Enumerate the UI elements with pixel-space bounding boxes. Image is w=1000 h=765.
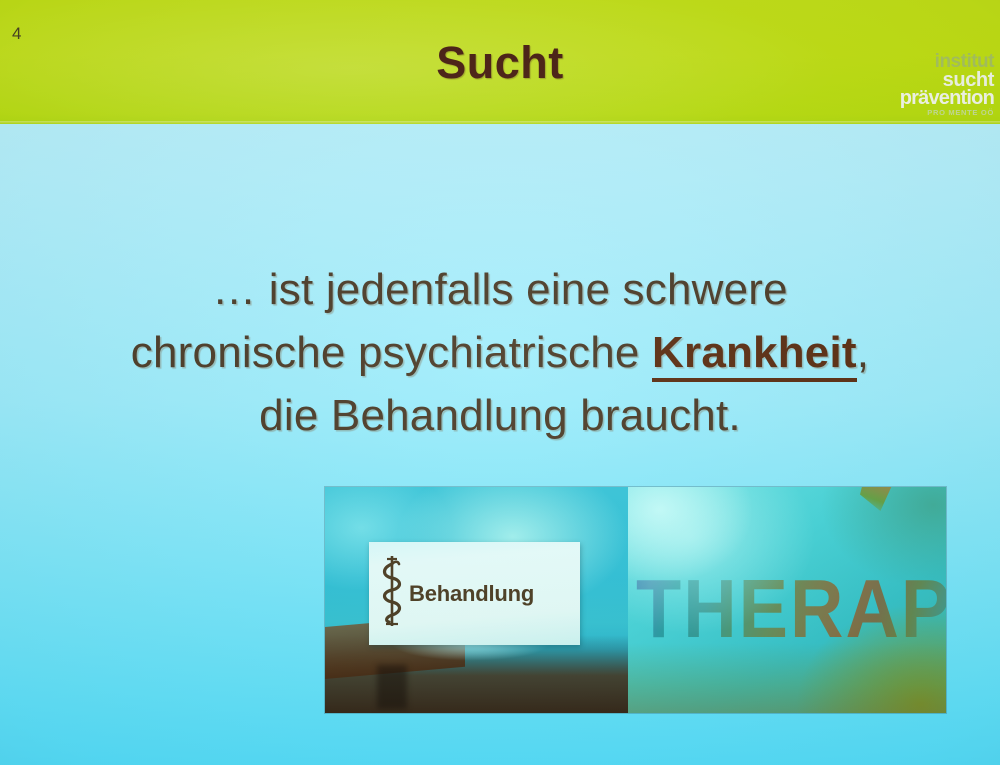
slide-body-text: … ist jedenfalls eine schwere chronische…	[0, 258, 1000, 447]
therapie-word: THERAPI	[636, 565, 946, 652]
behandlung-card-label: Behandlung	[409, 581, 534, 607]
photo-therapie-glass: THERAPI	[628, 487, 946, 713]
header-bottom-edge	[0, 121, 1000, 124]
body-line-3: die Behandlung braucht.	[0, 384, 1000, 447]
body-keyword-krankheit: Krankheit	[652, 328, 857, 382]
behandlung-card: Behandlung	[369, 542, 580, 645]
body-line-1: … ist jedenfalls eine schwere	[0, 258, 1000, 321]
slide-image-composite: Behandlung THERAPI	[325, 487, 946, 713]
logo-line-praevention: prävention	[882, 88, 994, 108]
body-line-2-prefix: chronische psychiatrische	[131, 328, 652, 377]
logo-line-institut: institut	[882, 52, 994, 71]
organization-logo: institut sucht prävention PRO MENTE OÖ	[882, 52, 994, 117]
photo-card-shadow	[377, 665, 407, 709]
slide-title: Sucht	[0, 37, 1000, 89]
body-line-2: chronische psychiatrische Krankheit,	[0, 321, 1000, 384]
body-line-2-suffix: ,	[857, 328, 869, 377]
photo-top-flare	[860, 487, 894, 511]
logo-tagline: PRO MENTE OÖ	[882, 109, 994, 117]
photo-behandlung-card: Behandlung	[325, 487, 628, 713]
aesculapius-staff-icon	[379, 552, 405, 635]
therapie-word-wrap: THERAPI	[636, 570, 946, 660]
presentation-slide: 4 Sucht institut sucht prävention PRO ME…	[0, 0, 1000, 765]
